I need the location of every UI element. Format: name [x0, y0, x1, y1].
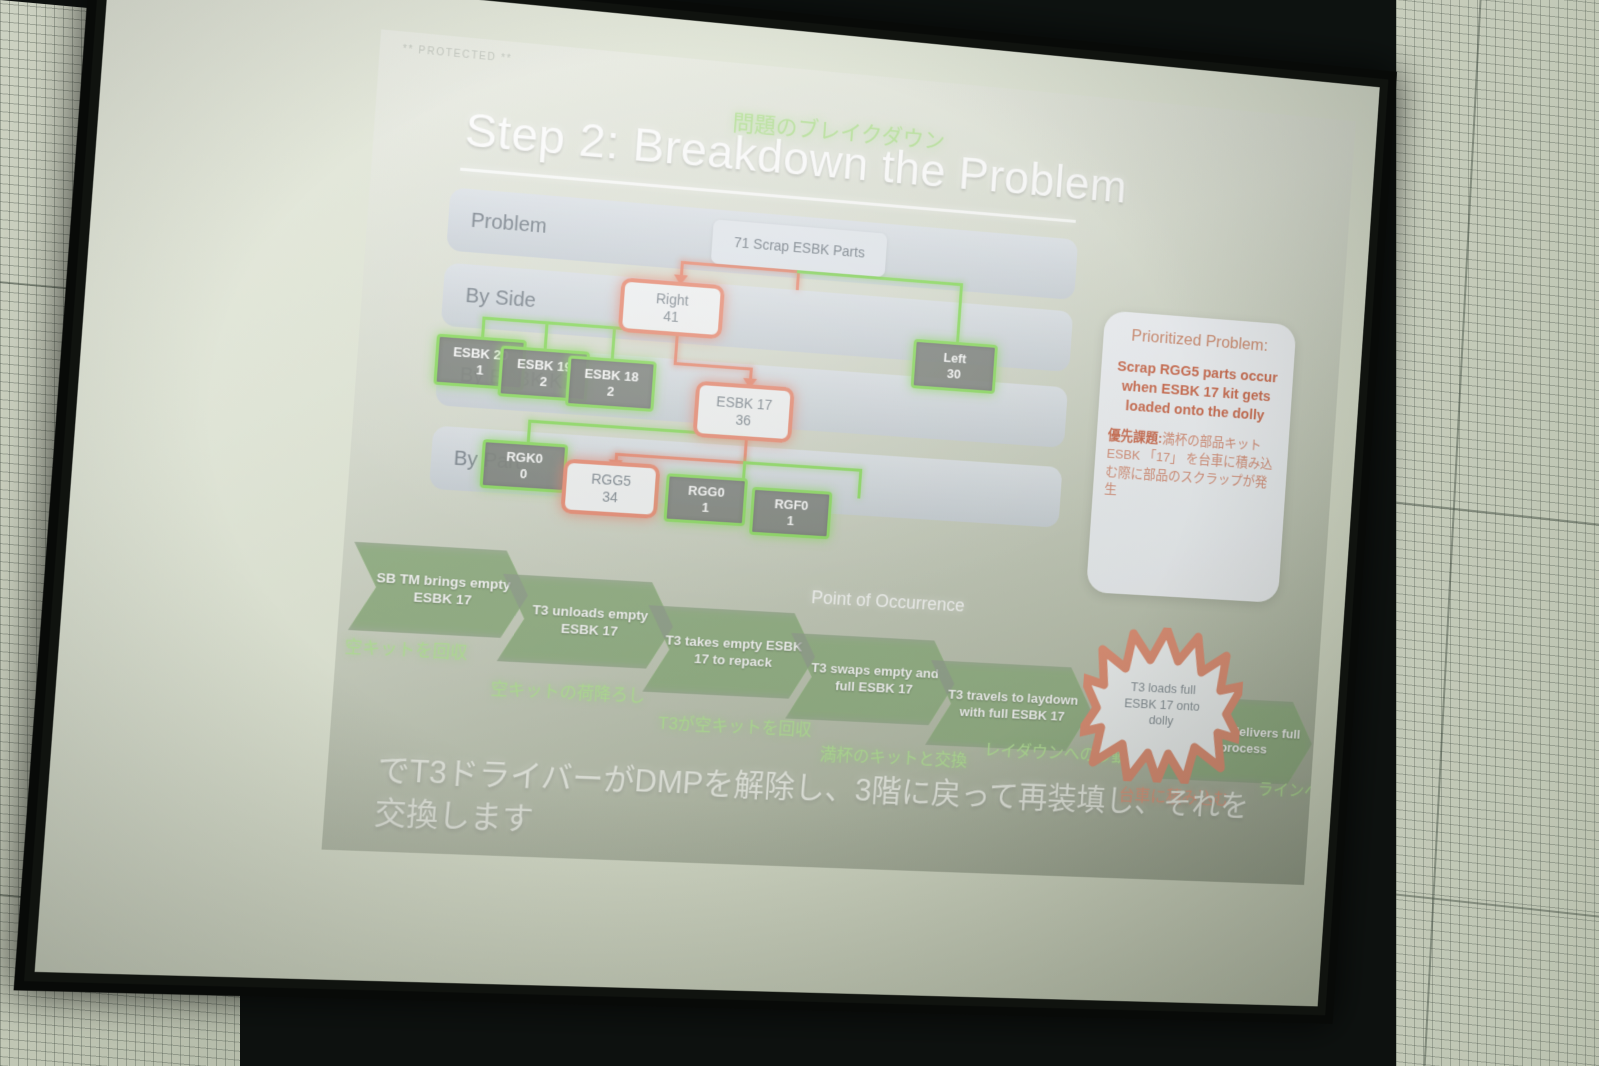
process-step-4-japanese: 満杯のキットと交換 — [819, 740, 968, 771]
burst-label: T3 loads full ESBK 17 onto dolly — [1077, 623, 1247, 786]
process-step-1[interactable]: SB TM brings empty ESBK 17 — [348, 542, 531, 639]
tree-node-left[interactable]: Left 30 — [911, 339, 998, 394]
process-step-label: T3 travels to laydown with full ESBK 17 — [927, 686, 1092, 727]
node-label: RGG5 — [591, 470, 632, 490]
row-label-problem: Problem — [470, 209, 547, 238]
node-label: RGK0 — [506, 448, 544, 467]
occurrence-burst-callout[interactable]: T3 loads full ESBK 17 onto dolly — [1077, 623, 1247, 786]
process-step-label: SB TM brings empty ESBK 17 — [350, 569, 529, 613]
prioritized-problem-jp-label: 優先課題: — [1107, 428, 1162, 446]
node-value: 0 — [519, 466, 528, 483]
tree-node-rgg0[interactable]: RGG0 1 — [663, 473, 748, 526]
tree-node-right[interactable]: Right 41 — [618, 277, 725, 339]
node-label: Left — [943, 350, 967, 368]
node-label: RGF0 — [774, 496, 809, 514]
node-value: 2 — [539, 374, 548, 391]
projected-slide: ** PROTECTED ** Step 2: Breakdown the Pr… — [322, 29, 1356, 885]
screen-surface: ** PROTECTED ** Step 2: Breakdown the Pr… — [35, 0, 1380, 1006]
screenshot-root: ** PROTECTED ** Step 2: Breakdown the Pr… — [0, 0, 1599, 1066]
point-of-occurrence-label: Point of Occurrence — [811, 587, 966, 616]
node-value: 1 — [786, 513, 794, 530]
tree-node-esbk-18[interactable]: ESBK 18 2 — [565, 355, 657, 412]
node-value: 41 — [663, 308, 680, 327]
projection-screen: ** PROTECTED ** Step 2: Breakdown the Pr… — [14, 0, 1397, 1024]
process-step-label: T3 swaps empty and full ESBK 17 — [787, 659, 955, 701]
row-label-by-side: By Side — [465, 284, 537, 313]
node-label: ESBK 19 — [516, 355, 572, 375]
node-value: 2 — [606, 383, 614, 400]
node-value: 30 — [946, 366, 961, 383]
prioritized-problem-japanese: 優先課題:満杯の部品キット ESBK 「17」 を台車に積み込む際に部品のスクラ… — [1104, 427, 1278, 510]
connector-kit-esbk19 — [544, 321, 549, 350]
node-value: 36 — [735, 412, 752, 430]
tree-node-esbk-17[interactable]: ESBK 17 36 — [692, 381, 794, 444]
prioritized-problem-heading: Prioritized Problem: — [1114, 325, 1285, 357]
prioritized-problem-body: Scrap RGG5 parts occur when ESBK 17 kit … — [1109, 357, 1282, 427]
node-value: 34 — [602, 488, 619, 507]
node-value: 1 — [475, 362, 484, 379]
tree-node-rgk0[interactable]: RGK0 0 — [479, 439, 568, 493]
node-label: ESBK 17 — [716, 393, 773, 414]
node-label: 71 Scrap ESBK Parts — [733, 234, 865, 262]
process-step-3[interactable]: T3 takes empty ESBK 17 to repack — [642, 605, 818, 700]
process-step-1-japanese: 空キットを回収 — [344, 632, 469, 664]
prioritized-problem-card[interactable]: Prioritized Problem: Scrap RGG5 parts oc… — [1086, 310, 1297, 603]
node-label: Right — [655, 290, 689, 310]
slide-watermark: ** PROTECTED ** — [402, 44, 512, 65]
tree-node-rgg5[interactable]: RGG5 34 — [560, 459, 660, 519]
process-step-2-japanese: 空キットの荷降ろし — [490, 674, 646, 707]
process-step-label: T3 unloads empty ESBK 17 — [499, 600, 675, 643]
node-value: 1 — [701, 500, 709, 517]
node-label: RGG0 — [688, 482, 726, 501]
tree-node-rgf0[interactable]: RGF0 1 — [749, 487, 832, 540]
process-step-label: T3 takes empty ESBK 17 to repack — [644, 631, 816, 673]
process-step-2[interactable]: T3 unloads empty ESBK 17 — [497, 574, 676, 670]
node-label: ESBK 18 — [584, 365, 640, 385]
process-step-4[interactable]: T3 swaps empty and full ESBK 17 — [785, 633, 957, 726]
